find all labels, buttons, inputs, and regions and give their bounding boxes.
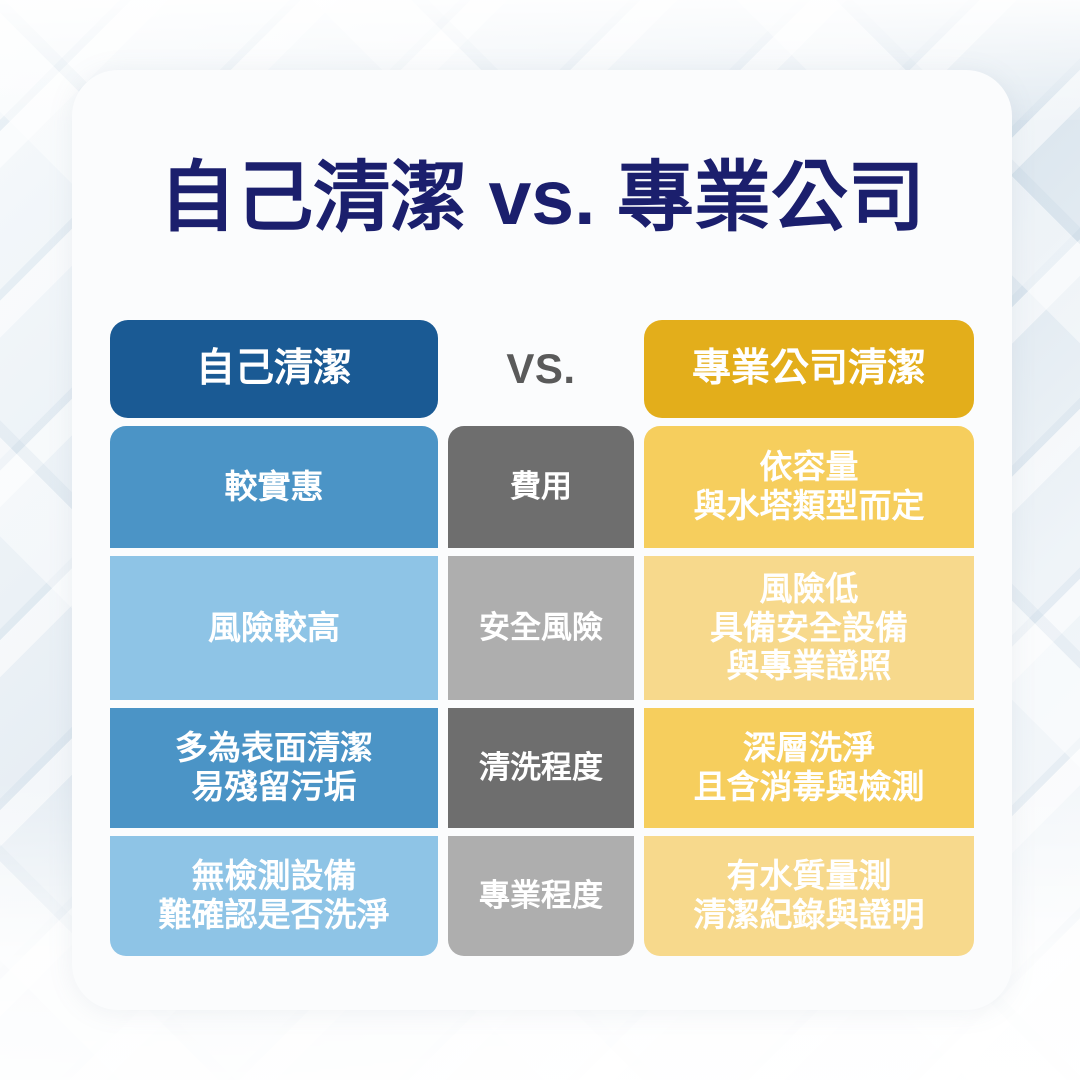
cell-line: 難確認是否洗淨 <box>159 896 390 935</box>
cell-criteria-cost: 費用 <box>448 426 634 548</box>
cell-line: 依容量 <box>694 448 925 487</box>
cell-pro-safety-risk: 風險低 具備安全設備 與專業證照 <box>644 556 974 700</box>
cell-line: 風險低 <box>710 570 908 609</box>
header-versus: VS. <box>448 320 634 418</box>
header-professional-cleaning: 專業公司清潔 <box>644 320 974 418</box>
table-row: 多為表面清潔 易殘留污垢 清洗程度 深層洗淨 且含消毒與檢測 <box>110 708 974 828</box>
cell-line: 多為表面清潔 <box>175 729 373 768</box>
content-card: 自己清潔 vs. 專業公司 自己清潔 VS. 專業公司清潔 較實惠 費用 依容量 <box>72 70 1012 1010</box>
cell-line: 易殘留污垢 <box>175 768 373 807</box>
header-self-cleaning: 自己清潔 <box>110 320 438 418</box>
cell-line: 與專業證照 <box>710 647 908 686</box>
cell-line: 較實惠 <box>225 468 324 507</box>
cell-self-safety-risk: 風險較高 <box>110 556 438 700</box>
table-row: 無檢測設備 難確認是否洗淨 專業程度 有水質量測 清潔紀錄與證明 <box>110 836 974 956</box>
poster-canvas: 自己清潔 vs. 專業公司 自己清潔 VS. 專業公司清潔 較實惠 費用 依容量 <box>0 0 1080 1080</box>
table-header-row: 自己清潔 VS. 專業公司清潔 <box>110 320 974 418</box>
cell-line: 與水塔類型而定 <box>694 487 925 526</box>
table-row: 風險較高 安全風險 風險低 具備安全設備 與專業證照 <box>110 556 974 700</box>
cell-self-professionalism: 無檢測設備 難確認是否洗淨 <box>110 836 438 956</box>
cell-criteria-wash-level: 清洗程度 <box>448 708 634 828</box>
table-row: 較實惠 費用 依容量 與水塔類型而定 <box>110 426 974 548</box>
cell-pro-cost: 依容量 與水塔類型而定 <box>644 426 974 548</box>
cell-line: 且含消毒與檢測 <box>694 768 925 807</box>
cell-line: 有水質量測 <box>694 857 925 896</box>
cell-line: 深層洗淨 <box>694 729 925 768</box>
cell-line: 風險較高 <box>208 609 340 648</box>
cell-criteria-safety-risk: 安全風險 <box>448 556 634 700</box>
cell-pro-wash-level: 深層洗淨 且含消毒與檢測 <box>644 708 974 828</box>
cell-line: 無檢測設備 <box>159 857 390 896</box>
cell-criteria-professionalism: 專業程度 <box>448 836 634 956</box>
cell-pro-professionalism: 有水質量測 清潔紀錄與證明 <box>644 836 974 956</box>
page-title: 自己清潔 vs. 專業公司 <box>72 160 1012 237</box>
cell-line: 清潔紀錄與證明 <box>694 896 925 935</box>
cell-self-wash-level: 多為表面清潔 易殘留污垢 <box>110 708 438 828</box>
cell-line: 具備安全設備 <box>710 609 908 648</box>
cell-self-cost: 較實惠 <box>110 426 438 548</box>
comparison-table: 自己清潔 VS. 專業公司清潔 較實惠 費用 依容量 與水塔類型而定 <box>110 320 974 964</box>
